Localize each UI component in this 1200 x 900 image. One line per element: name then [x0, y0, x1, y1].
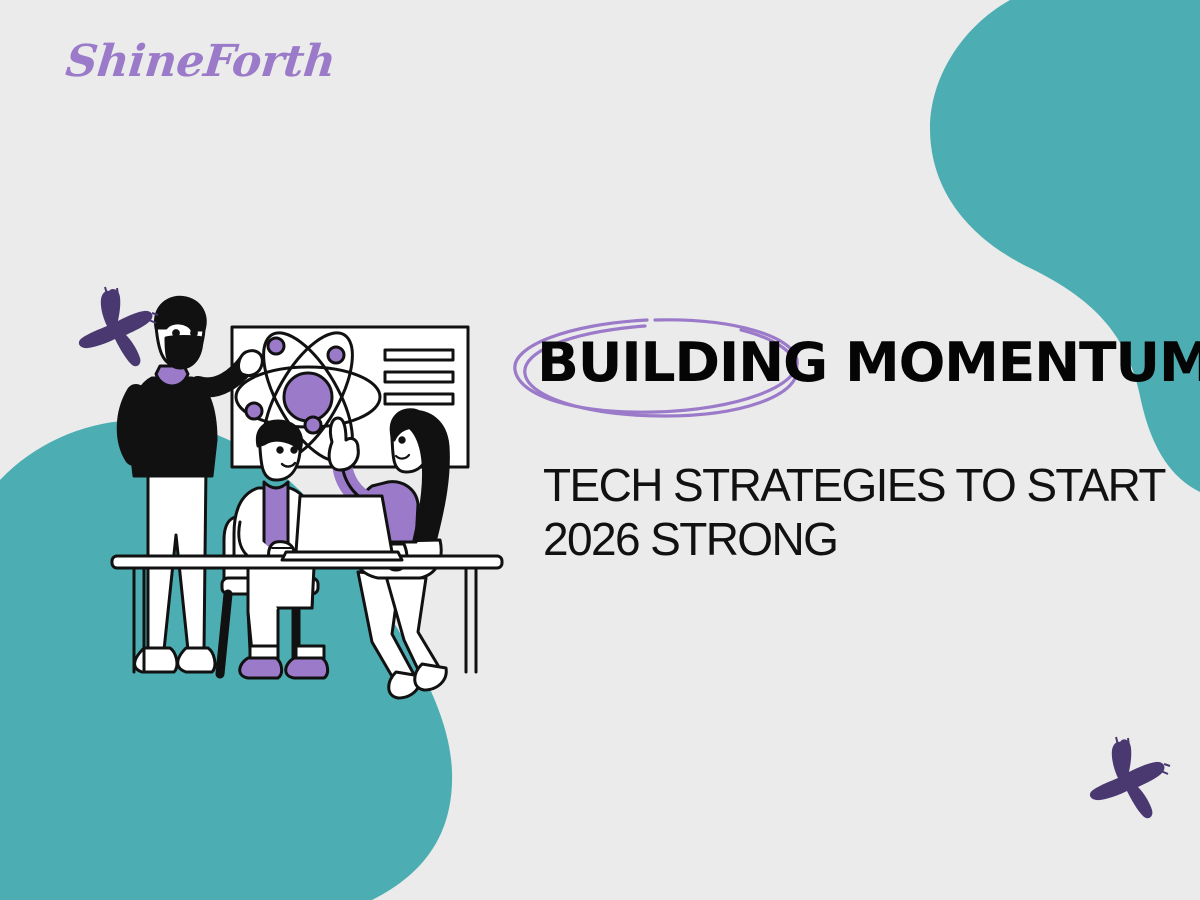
purple-brush-cross-icon — [1080, 735, 1172, 823]
purple-brush-cross-icon — [70, 285, 160, 370]
whiteboard-text-lines — [385, 350, 453, 404]
brand-logo[interactable]: ShineForth — [63, 36, 338, 87]
team-whiteboard-meeting-illustration — [100, 290, 520, 710]
page-subtitle: TECH STRATEGIES TO START 2026 STRONG — [543, 458, 1183, 566]
laptop — [282, 496, 402, 560]
poster-canvas: ShineForth — [0, 0, 1200, 900]
headline-block: BUILDING MOMENTUM TECH STRATEGIES TO STA… — [533, 318, 1183, 426]
page-title: BUILDING MOMENTUM — [537, 336, 1200, 390]
